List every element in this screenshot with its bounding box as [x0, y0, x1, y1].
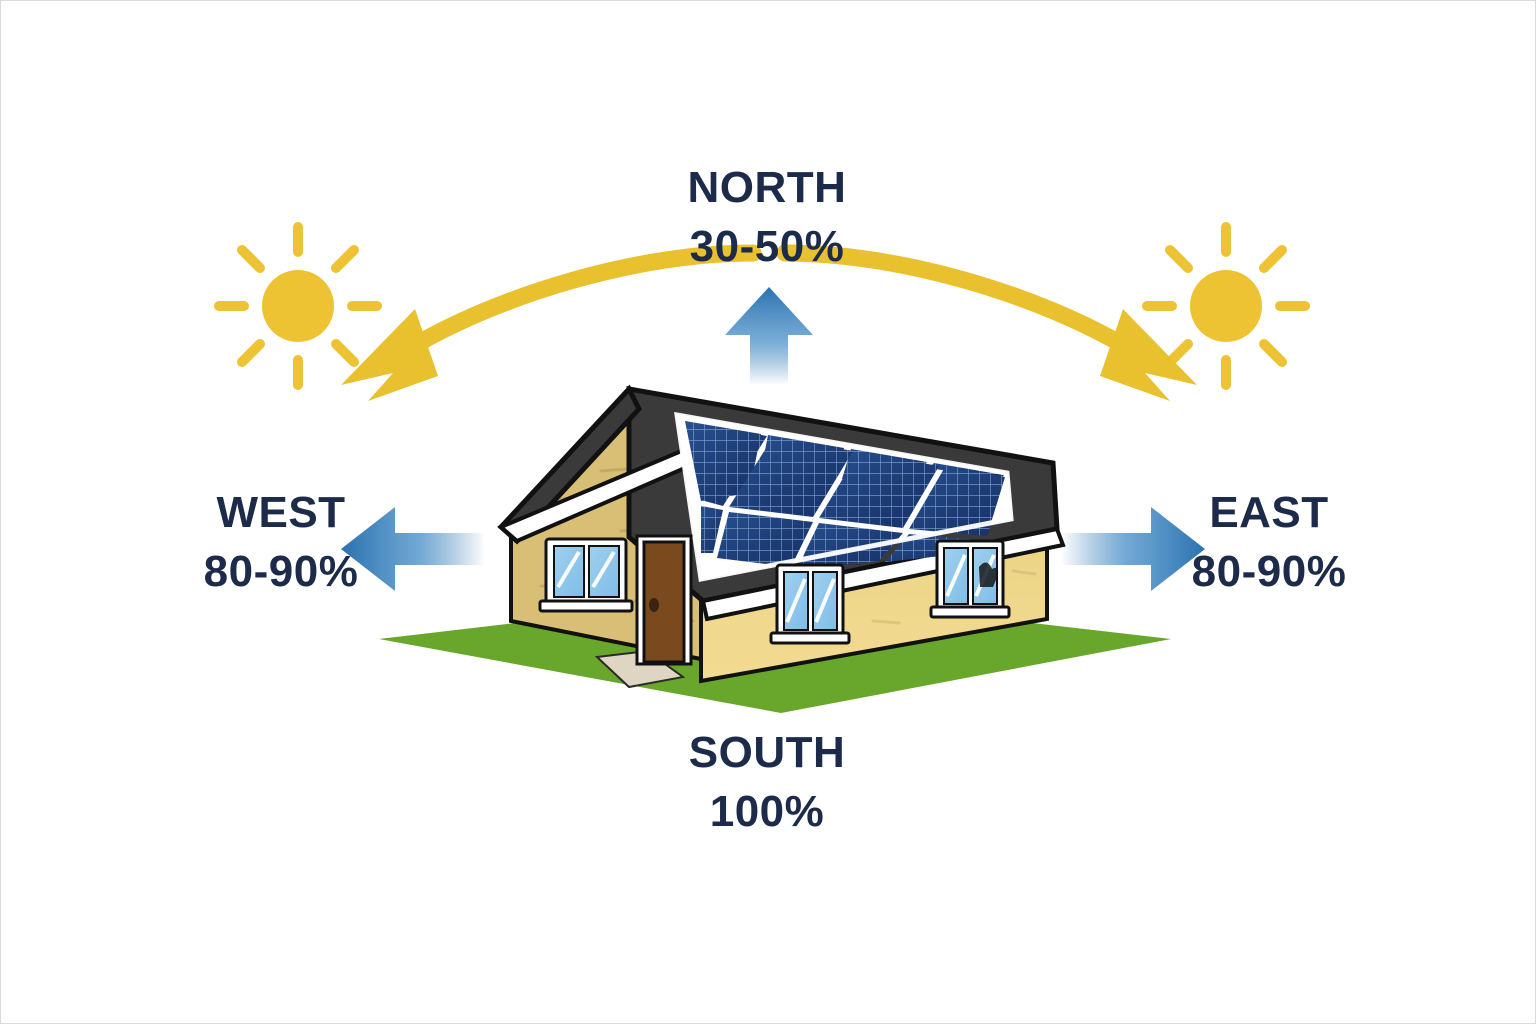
label-north-direction: NORTH [617, 163, 917, 212]
front-door[interactable] [637, 536, 691, 664]
label-south: SOUTH 100% [637, 728, 897, 837]
label-north: NORTH 30-50% [617, 163, 917, 272]
window-front-left [771, 565, 849, 643]
label-north-percent: 30-50% [617, 222, 917, 271]
label-west-percent: 80-90% [141, 547, 421, 596]
label-west-direction: WEST [141, 488, 421, 537]
label-south-percent: 100% [637, 787, 897, 836]
curved-arrow-right-icon [785, 253, 1197, 401]
label-east-direction: EAST [1119, 488, 1419, 537]
sun-icon-left [219, 227, 377, 385]
label-east: EAST 80-90% [1119, 488, 1419, 597]
label-south-direction: SOUTH [637, 728, 897, 777]
label-east-percent: 80-90% [1119, 547, 1419, 596]
window-west [540, 539, 632, 611]
window-front-right [931, 541, 1009, 617]
label-west: WEST 80-90% [141, 488, 421, 597]
diagram-canvas: NORTH 30-50% WEST 80-90% EAST 80-90% SOU… [0, 0, 1536, 1024]
arrow-up-icon [725, 287, 813, 385]
curved-arrow-left-icon [341, 253, 753, 401]
